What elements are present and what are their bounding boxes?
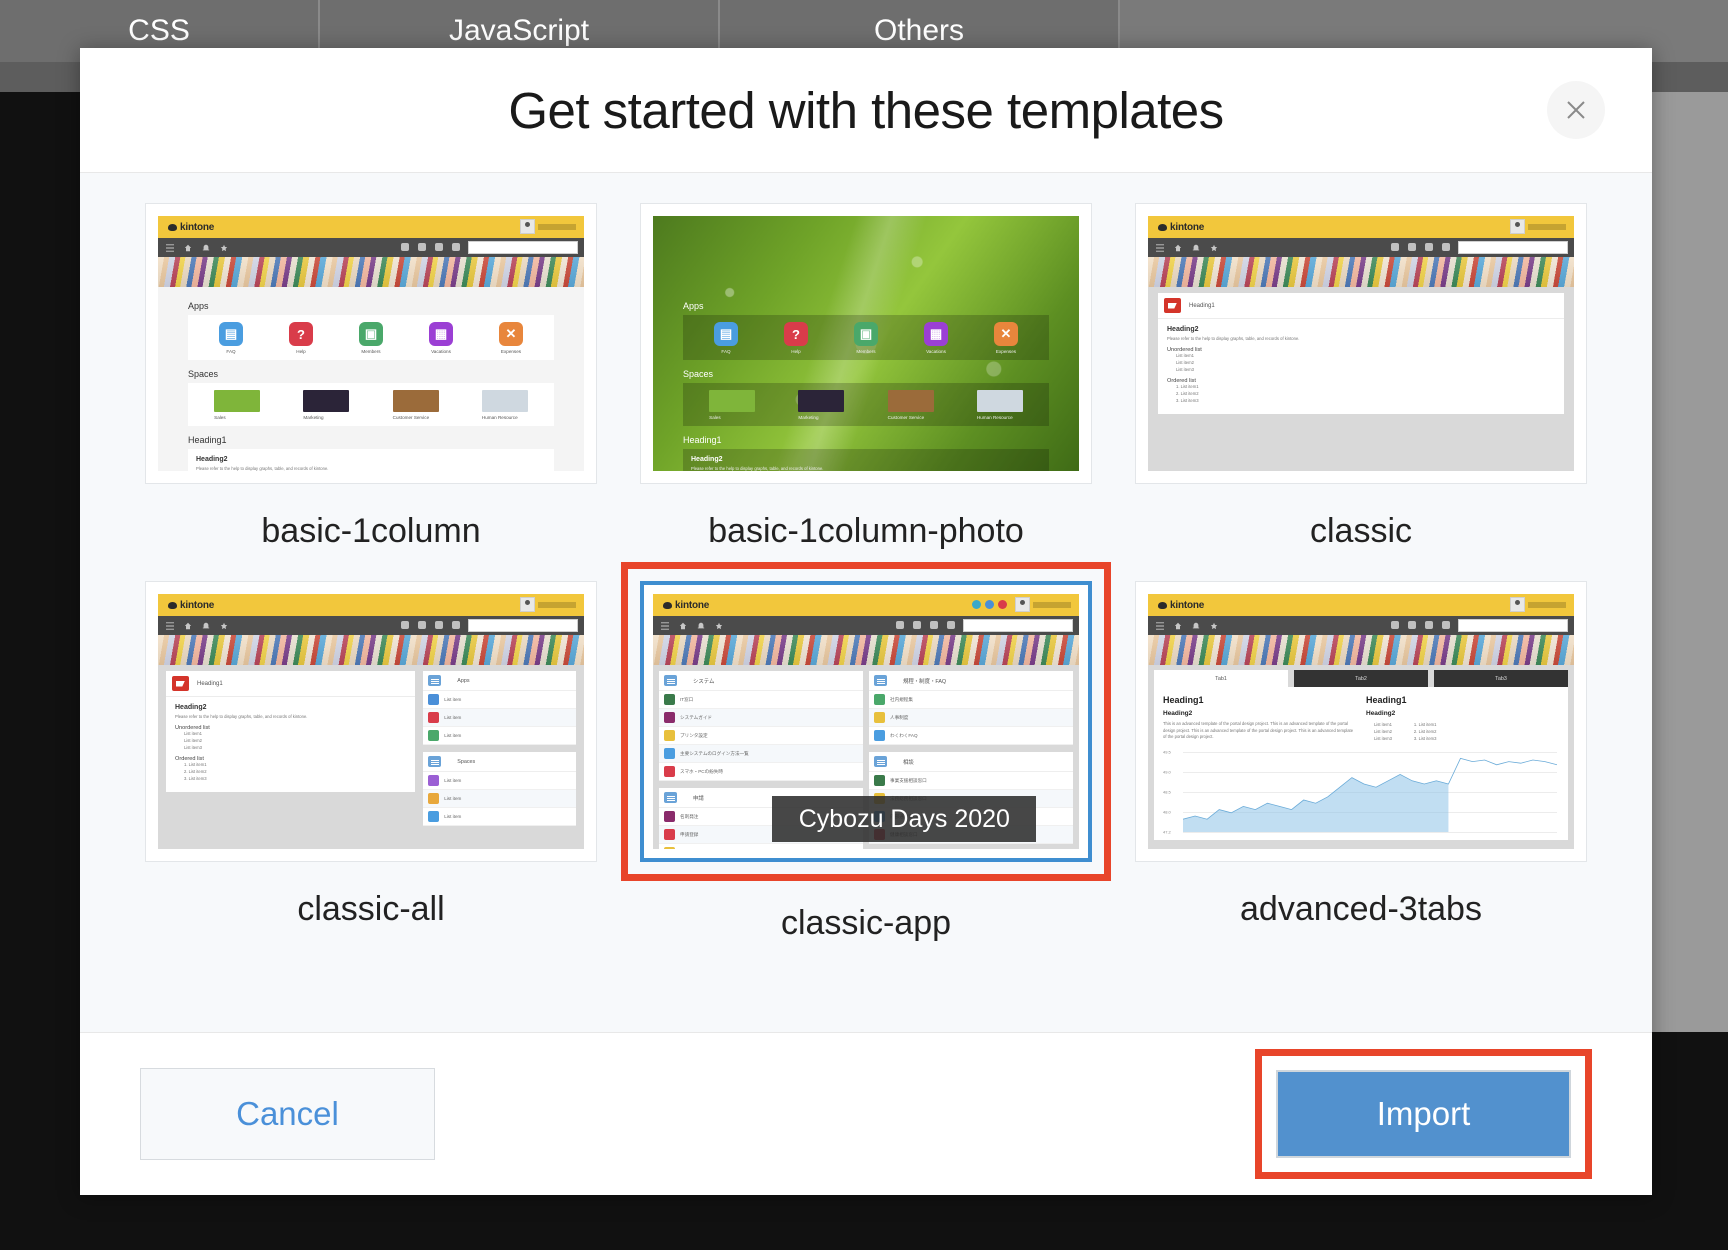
list-row-label: IT窓口 — [680, 697, 693, 703]
app-icon — [428, 712, 439, 723]
list-item: 1. List item1 — [1414, 721, 1437, 728]
search-input[interactable] — [1458, 619, 1568, 632]
list-group-header: Apps — [423, 671, 576, 691]
list-row[interactable]: List item — [423, 709, 576, 727]
area-chart: 49.5 49.0 48.5 48.0 47.2 — [1163, 752, 1559, 832]
list-item: List item3 — [1176, 367, 1555, 374]
template-name: basic-1column — [261, 512, 480, 551]
unordered-list: List item1List item2List item3 — [1176, 353, 1555, 373]
list-group-title: Apps — [457, 678, 469, 684]
star-icon[interactable] — [1210, 622, 1218, 630]
kintone-preview: kintone Heading1 Heading2 Please refer t… — [158, 594, 584, 849]
paragraph: Please refer to the help to display grap… — [691, 466, 1041, 471]
list-row-label: わくわくFAQ — [890, 733, 918, 739]
unordered-list: List item1List item2List item3 — [1374, 721, 1392, 742]
apps-card: ▤ FAQ ? Help ▣ Members ▦ Vacations ✕ Exp… — [188, 315, 554, 360]
space-thumbnail — [709, 390, 755, 412]
portal-body: Apps ▤ FAQ ? Help ▣ Members ▦ Vacations … — [653, 287, 1079, 471]
kintone-topbar: kintone — [158, 216, 584, 238]
y-axis-tick: 47.2 — [1163, 830, 1171, 835]
space-item[interactable]: Human Resource — [977, 390, 1023, 420]
heading1: Heading1 — [188, 435, 554, 445]
list-row[interactable]: List item — [423, 790, 576, 808]
flag-title: Heading1 — [1189, 303, 1215, 309]
space-item[interactable]: Customer Service — [888, 390, 934, 420]
list-row-label: 名刺発注 — [680, 814, 698, 820]
list-item: List item3 — [184, 745, 406, 752]
list-row[interactable]: わくわくFAQ — [869, 727, 1073, 745]
list-icon — [428, 756, 441, 767]
y-axis-tick: 49.5 — [1163, 750, 1171, 755]
app-icon: ▦ — [924, 322, 948, 346]
classic-panel: Heading1 Heading2 Please refer to the he… — [1158, 293, 1564, 414]
user-name — [1528, 602, 1566, 608]
app-icon — [664, 730, 675, 741]
space-thumbnail — [977, 390, 1023, 412]
list-group-title: Spaces — [457, 759, 475, 765]
templates-grid-container: kintone Apps ▤ FAQ ? Help ▣ Members ▦ — [80, 173, 1652, 1032]
nav-right-icons — [401, 243, 460, 251]
flag-icon — [1164, 298, 1181, 313]
kintone-navbar — [653, 616, 1079, 635]
header-photo — [1148, 257, 1574, 287]
flag-icon — [172, 676, 189, 691]
list-item: List item1 — [1374, 721, 1392, 728]
ordered-list: 1. List item12. List item23. List item3 — [184, 762, 406, 782]
heading1: Heading1 — [683, 435, 1049, 445]
ordered-list: 1. List item12. List item23. List item3 — [1414, 721, 1437, 742]
menu-icon[interactable] — [1156, 244, 1164, 252]
kintone-navbar — [1148, 238, 1574, 257]
app-label: FAQ — [721, 349, 730, 354]
app-item[interactable]: ▤ FAQ — [211, 322, 251, 354]
bell-icon[interactable] — [1192, 622, 1200, 630]
list-row[interactable]: List item — [423, 727, 576, 745]
list-group-title: システム — [693, 677, 714, 685]
template-card-classic[interactable]: kintone Heading1 Heading2 Please refer t… — [1135, 203, 1587, 573]
list-item: List item1 — [184, 731, 406, 738]
template-card-basic-1column-photo[interactable]: kintone Apps ▤ FAQ ? Help ▣ Members ▦ — [640, 203, 1092, 573]
user-name — [1528, 224, 1566, 230]
list-row[interactable]: List item — [423, 808, 576, 826]
app-item[interactable]: ▣ Members — [351, 322, 391, 354]
list-item: List item2 — [1374, 728, 1392, 735]
classic-heading-bar: Heading1 — [166, 671, 415, 697]
home-icon[interactable] — [184, 244, 192, 252]
spaces-card: Sales Marketing Customer Service Human R… — [683, 383, 1049, 426]
space-thumbnail — [393, 390, 439, 412]
app-icon: ✕ — [994, 322, 1018, 346]
list-row-label: プリンタ設定 — [680, 733, 708, 739]
app-item[interactable]: ▦ Vacations — [421, 322, 461, 354]
home-icon[interactable] — [679, 622, 687, 630]
tab-bar: Tab1Tab2Tab3 — [1148, 665, 1574, 687]
bell-icon[interactable] — [697, 622, 705, 630]
space-item[interactable]: Sales — [214, 390, 260, 420]
list-icon — [664, 675, 677, 686]
app-icon — [664, 766, 675, 777]
right-column: Heading1 Heading2 List item1List item2Li… — [1366, 695, 1559, 742]
menu-icon[interactable] — [166, 622, 174, 630]
paragraph: Please refer to the help to display grap… — [175, 714, 406, 720]
list-row[interactable]: 社内規程集 — [869, 691, 1073, 709]
kintone-navbar — [158, 238, 584, 257]
list-row[interactable]: 事業支援相談窓口 — [869, 772, 1073, 790]
app-icon — [428, 730, 439, 741]
apps-card: ▤ FAQ ? Help ▣ Members ▦ Vacations ✕ Exp… — [683, 315, 1049, 360]
kintone-logo: kintone — [1158, 600, 1204, 611]
app-item[interactable]: ▣ Members — [846, 322, 886, 354]
template-name: advanced-3tabs — [1240, 890, 1482, 929]
list-row-label: 申請登録 — [680, 832, 698, 838]
list-group-header: システム — [659, 671, 863, 691]
close-button[interactable] — [1547, 81, 1605, 139]
left-column: Heading1 Heading2 Please refer to the he… — [166, 671, 415, 792]
y-axis-tick: 48.5 — [1163, 790, 1171, 795]
heading1: Heading1 — [1366, 695, 1559, 705]
list-row[interactable]: プリンタ設定 — [659, 727, 863, 745]
gridline — [1183, 832, 1557, 833]
template-name: basic-1column-photo — [708, 512, 1024, 551]
app-icon — [874, 694, 885, 705]
kintone-logo: kintone — [168, 222, 214, 233]
import-button[interactable]: Import — [1276, 1070, 1571, 1158]
kintone-preview: kintone システム IT窓口 システムガイド — [653, 594, 1079, 849]
kintone-preview: kintone Tab1Tab2Tab3 Heading1 Heading2 T… — [1148, 594, 1574, 849]
kintone-logo: kintone — [663, 600, 709, 611]
app-item[interactable]: ? Help — [776, 322, 816, 354]
left-column: Heading1 Heading2 This is an advanced te… — [1163, 695, 1356, 742]
space-thumbnail — [798, 390, 844, 412]
user-menu[interactable] — [1510, 597, 1566, 612]
portal-body: Apps ▤ FAQ ? Help ▣ Members ▦ Vacations … — [158, 287, 584, 471]
kintone-preview: kintone Heading1 Heading2 Please refer t… — [1148, 216, 1574, 471]
space-item[interactable]: Sales — [709, 390, 755, 420]
classic-panel: Heading1 Heading2 Please refer to the he… — [166, 671, 415, 792]
app-icon: ▤ — [219, 322, 243, 346]
home-icon[interactable] — [184, 622, 192, 630]
ordered-list: 1. List item12. List item23. List item3 — [1176, 384, 1555, 404]
app-icon — [874, 712, 885, 723]
list-item: 3. List item3 — [1176, 398, 1555, 405]
space-label: Marketing — [303, 415, 349, 420]
kintone-logo: kintone — [168, 600, 214, 611]
portal-body: Heading1 Heading2 Please refer to the he… — [158, 665, 584, 849]
list-item: List item3 — [1374, 735, 1392, 742]
list-group-header: 規程・制度・FAQ — [869, 671, 1073, 691]
user-name — [538, 224, 576, 230]
star-icon[interactable] — [220, 244, 228, 252]
list-icon — [874, 756, 887, 767]
home-icon[interactable] — [1174, 244, 1182, 252]
space-label: Marketing — [798, 415, 844, 420]
space-label: Sales — [214, 415, 260, 420]
columns: Heading1 Heading2 This is an advanced te… — [1163, 695, 1559, 742]
app-label: Vacations — [431, 349, 451, 354]
app-icon: ▣ — [854, 322, 878, 346]
space-label: Customer Service — [888, 415, 934, 420]
template-card-classic-all[interactable]: kintone Heading1 Heading2 Please refer t… — [145, 581, 597, 965]
space-item[interactable]: Customer Service — [393, 390, 439, 420]
template-card-basic-1column[interactable]: kintone Apps ▤ FAQ ? Help ▣ Members ▦ — [145, 203, 597, 573]
cancel-button[interactable]: Cancel — [140, 1068, 435, 1160]
app-label: Expenses — [996, 349, 1016, 354]
search-input[interactable] — [468, 241, 578, 254]
heading-card: Heading2 Please refer to the help to dis… — [683, 449, 1049, 471]
spaces-card: Sales Marketing Customer Service Human R… — [188, 383, 554, 426]
list-item: 3. List item3 — [184, 776, 406, 783]
app-icon — [428, 694, 439, 705]
app-icon — [664, 748, 675, 759]
heading2: Heading2 — [1167, 326, 1555, 333]
modal-header: Get started with these templates — [80, 48, 1652, 173]
app-icon — [664, 847, 675, 849]
heading2: Heading2 — [1163, 710, 1356, 717]
list-row-label: List item — [444, 814, 461, 819]
list-row[interactable]: スマホ・PCの紛失時 — [659, 763, 863, 781]
list-row-label: List item — [444, 796, 461, 801]
template-tab[interactable]: Tab3 — [1434, 670, 1568, 687]
heading1: Heading1 — [1163, 695, 1356, 705]
app-icon: ? — [784, 322, 808, 346]
kintone-topbar: kintone — [1148, 594, 1574, 616]
bell-icon[interactable] — [202, 244, 210, 252]
y-axis-tick: 49.0 — [1163, 770, 1171, 775]
classic-heading-bar: Heading1 — [1158, 293, 1564, 319]
menu-icon[interactable] — [166, 244, 174, 252]
app-icon: ✕ — [499, 322, 523, 346]
list-row-label: 事業支援相談窓口 — [890, 778, 927, 784]
star-icon[interactable] — [220, 622, 228, 630]
app-icon — [428, 811, 439, 822]
space-label: Customer Service — [393, 415, 439, 420]
list-item: List item2 — [1176, 360, 1555, 367]
list-row[interactable]: 人事制度 — [869, 709, 1073, 727]
template-name: classic — [1310, 512, 1412, 551]
app-label: FAQ — [226, 349, 235, 354]
app-item[interactable]: ▤ FAQ — [706, 322, 746, 354]
list-group: システム IT窓口 システムガイド プリンタ設定 主要システムのログイン方法一覧… — [659, 671, 863, 781]
portal-body: Tab1Tab2Tab3 Heading1 Heading2 This is a… — [1148, 665, 1574, 849]
apps-section-title: Apps — [683, 301, 1049, 311]
search-input[interactable] — [1458, 241, 1568, 254]
home-icon[interactable] — [1174, 622, 1182, 630]
chart-svg — [1183, 752, 1557, 832]
y-axis-tick: 48.0 — [1163, 810, 1171, 815]
nav-right-icons — [401, 621, 460, 629]
list-row-label: List item — [444, 715, 461, 720]
spaces-section-title: Spaces — [683, 369, 1049, 379]
list-row[interactable]: システムガイド — [659, 709, 863, 727]
kintone-preview: kintone Apps ▤ FAQ ? Help ▣ Members ▦ — [653, 216, 1079, 471]
list-row-label: List item — [444, 697, 461, 702]
list-item: 1. List item1 — [1176, 384, 1555, 391]
list-icon — [428, 675, 441, 686]
app-icon — [428, 793, 439, 804]
app-item[interactable]: ✕ Expenses — [986, 322, 1026, 354]
heading2: Heading2 — [1366, 710, 1559, 717]
app-label: Expenses — [501, 349, 521, 354]
user-menu[interactable] — [520, 597, 576, 612]
app-label: Members — [361, 349, 380, 354]
paragraph: This is an advanced template of the port… — [1163, 721, 1356, 741]
template-card-advanced-3tabs[interactable]: kintone Tab1Tab2Tab3 Heading1 Heading2 T… — [1135, 581, 1587, 965]
template-thumbnail[interactable]: kintone Apps ▤ FAQ ? Help ▣ Members ▦ — [640, 203, 1092, 484]
menu-icon[interactable] — [1156, 622, 1164, 630]
avatar — [1510, 597, 1525, 612]
nav-right-icons — [1391, 621, 1450, 629]
template-thumbnail[interactable]: kintone Heading1 Heading2 Please refer t… — [1135, 203, 1587, 484]
spaces-section-title: Spaces — [188, 369, 554, 379]
space-item[interactable]: Human Resource — [482, 390, 528, 420]
app-label: Help — [791, 349, 800, 354]
list-row-label: List item — [444, 733, 461, 738]
templates-modal: Get started with these templates kintone… — [80, 48, 1652, 1195]
page-title: Get started with these templates — [508, 81, 1223, 140]
app-item[interactable]: ▦ Vacations — [916, 322, 956, 354]
unordered-list: List item1List item2List item3 — [184, 731, 406, 751]
paragraph: Please refer to the help to display grap… — [196, 466, 546, 471]
app-icon — [664, 712, 675, 723]
list-group-title: 相談 — [903, 758, 914, 766]
list-row[interactable]: 休日出勤申請 — [659, 844, 863, 849]
kintone-topbar: kintone — [158, 594, 584, 616]
star-icon[interactable] — [1210, 244, 1218, 252]
app-icon: ▦ — [429, 322, 453, 346]
header-photo — [158, 257, 584, 287]
space-thumbnail — [482, 390, 528, 412]
app-icon — [664, 811, 675, 822]
app-label: Members — [856, 349, 875, 354]
user-name — [1033, 602, 1071, 608]
paragraph: Please refer to the help to display grap… — [1167, 336, 1555, 342]
template-thumbnail[interactable]: kintone システム IT窓口 システムガイド — [640, 581, 1092, 862]
space-item[interactable]: Marketing — [798, 390, 844, 420]
search-input[interactable] — [963, 619, 1073, 632]
list-item: 2. List item2 — [1176, 391, 1555, 398]
header-photo — [653, 635, 1079, 665]
app-icon: ? — [289, 322, 313, 346]
avatar — [1015, 597, 1030, 612]
star-icon[interactable] — [715, 622, 723, 630]
bell-icon[interactable] — [202, 622, 210, 630]
app-icon — [428, 775, 439, 786]
app-item[interactable]: ? Help — [281, 322, 321, 354]
portal-body: Heading1 Heading2 Please refer to the he… — [1148, 287, 1574, 471]
list-row[interactable]: List item — [423, 772, 576, 790]
template-name: classic-all — [297, 890, 444, 929]
template-thumbnail[interactable]: kintone Tab1Tab2Tab3 Heading1 Heading2 T… — [1135, 581, 1587, 862]
import-annotation-box: Import — [1255, 1049, 1592, 1179]
kintone-preview: kintone Apps ▤ FAQ ? Help ▣ Members ▦ — [158, 216, 584, 471]
app-icon — [664, 829, 675, 840]
list-item: 2. List item2 — [1414, 728, 1437, 735]
promo-banner: Cybozu Days 2020 — [772, 796, 1036, 842]
app-icon: ▣ — [359, 322, 383, 346]
search-input[interactable] — [468, 619, 578, 632]
list-row-label: 主要システムのログイン方法一覧 — [680, 751, 749, 757]
kintone-navbar — [158, 616, 584, 635]
space-thumbnail — [303, 390, 349, 412]
menu-icon[interactable] — [661, 622, 669, 630]
template-tab[interactable]: Tab2 — [1294, 670, 1428, 687]
template-tab[interactable]: Tab1 — [1154, 670, 1288, 687]
list-item: List item2 — [184, 738, 406, 745]
user-name — [538, 602, 576, 608]
templates-grid: kintone Apps ▤ FAQ ? Help ▣ Members ▦ — [145, 203, 1587, 965]
list-item: 1. List item1 — [184, 762, 406, 769]
list-icon — [874, 675, 887, 686]
list-item: List item1 — [1176, 353, 1555, 360]
heading2: Heading2 — [175, 704, 406, 711]
header-photo — [158, 635, 584, 665]
list-row-label: 人事制度 — [890, 715, 908, 721]
list-row-label: 社内規程集 — [890, 697, 913, 703]
list-row[interactable]: 主要システムのログイン方法一覧 — [659, 745, 863, 763]
user-menu[interactable] — [1015, 597, 1071, 612]
classic-content: Heading2 Please refer to the help to dis… — [1158, 319, 1564, 414]
portal-body: システム IT窓口 システムガイド プリンタ設定 主要システムのログイン方法一覧… — [653, 665, 1079, 849]
two-column-layout: Heading1 Heading2 Please refer to the he… — [166, 671, 576, 833]
tab-content: Heading1 Heading2 This is an advanced te… — [1154, 687, 1568, 840]
list-group: 規程・制度・FAQ 社内規程集 人事制度 わくわくFAQ — [869, 671, 1073, 745]
close-icon — [1565, 99, 1587, 121]
bell-icon[interactable] — [1192, 244, 1200, 252]
space-label: Human Resource — [482, 415, 528, 420]
template-card-classic-app[interactable]: kintone システム IT窓口 システムガイド — [640, 581, 1092, 965]
list-row-label: システムガイド — [680, 715, 712, 721]
app-icon: ▤ — [714, 322, 738, 346]
template-thumbnail[interactable]: kintone Apps ▤ FAQ ? Help ▣ Members ▦ — [145, 203, 597, 484]
heading2: Heading2 — [196, 456, 546, 463]
app-icon — [664, 694, 675, 705]
list-group-header: 相談 — [869, 752, 1073, 772]
space-label: Sales — [709, 415, 755, 420]
list-icon — [664, 792, 677, 803]
nav-right-icons — [1391, 243, 1450, 251]
list-row-label: List item — [444, 778, 461, 783]
flag-title: Heading1 — [197, 681, 223, 687]
space-label: Human Resource — [977, 415, 1023, 420]
list-row[interactable]: List item — [423, 691, 576, 709]
app-icon — [874, 775, 885, 786]
template-thumbnail[interactable]: kintone Heading1 Heading2 Please refer t… — [145, 581, 597, 862]
classic-content: Heading2 Please refer to the help to dis… — [166, 697, 415, 792]
list-group-title: 申請 — [693, 794, 704, 802]
app-label: Help — [296, 349, 305, 354]
user-menu[interactable] — [1510, 219, 1566, 234]
avatar — [520, 219, 535, 234]
kintone-logo: kintone — [1158, 222, 1204, 233]
avatar — [520, 597, 535, 612]
list-group: Spaces List item List item List item — [423, 752, 576, 826]
modal-footer: Cancel Import — [80, 1032, 1652, 1195]
status-dots — [972, 600, 1007, 609]
list-item: 3. List item3 — [1414, 735, 1437, 742]
kintone-topbar: kintone — [653, 594, 1079, 616]
apps-section-title: Apps — [188, 301, 554, 311]
app-icon — [874, 730, 885, 741]
app-item[interactable]: ✕ Expenses — [491, 322, 531, 354]
list-row-label: スマホ・PCの紛失時 — [680, 769, 723, 775]
list-row[interactable]: IT窓口 — [659, 691, 863, 709]
list-group-header: Spaces — [423, 752, 576, 772]
heading2: Heading2 — [691, 456, 1041, 463]
user-menu[interactable] — [520, 219, 576, 234]
space-thumbnail — [214, 390, 260, 412]
space-item[interactable]: Marketing — [303, 390, 349, 420]
list-item: 2. List item2 — [184, 769, 406, 776]
